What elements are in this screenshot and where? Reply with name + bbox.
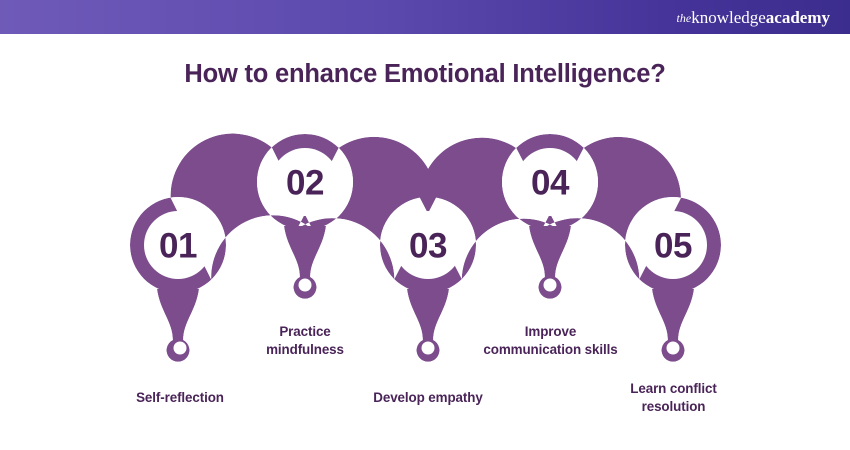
step-label-5-line-2: resolution — [595, 398, 752, 416]
step-label-2-line-1: Practice — [225, 323, 385, 341]
step-label-3-line-1: Develop empathy — [348, 389, 508, 407]
step-label-4: Improve communication skills — [462, 323, 639, 359]
step-number-1: 01 — [159, 227, 197, 266]
step-label-1-line-1: Self-reflection — [100, 389, 260, 407]
step-number-3: 03 — [409, 227, 447, 266]
step-label-5: Learn conflict resolution — [595, 380, 752, 416]
step-label-4-line-1: Improve — [462, 323, 639, 341]
step-label-5-line-1: Learn conflict — [595, 380, 752, 398]
step-label-3: Develop empathy — [348, 389, 508, 407]
step-number-5: 05 — [654, 227, 692, 266]
step-number-4: 04 — [531, 164, 570, 203]
step-label-4-line-2: communication skills — [462, 341, 639, 359]
step-label-1: Self-reflection — [100, 389, 260, 407]
step-label-2-line-2: mindfulness — [225, 341, 385, 359]
step-label-2: Practice mindfulness — [225, 323, 385, 359]
step-number-2: 02 — [286, 164, 324, 203]
